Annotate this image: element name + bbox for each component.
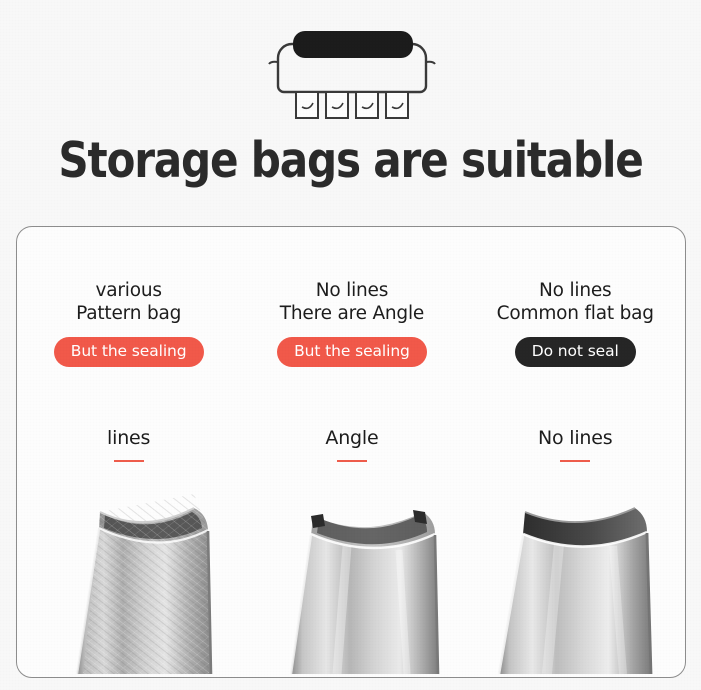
smooth-flat-bag-svg [485, 490, 685, 674]
sealing-bar [293, 31, 413, 58]
comparison-card: various Pattern bag But the sealing line… [16, 226, 686, 678]
column-pattern-bag: various Pattern bag But the sealing line… [17, 227, 240, 462]
bag-image-pattern [55, 490, 255, 678]
heading-line-1: various [76, 279, 181, 302]
accent-underline [337, 460, 367, 462]
bag-tab [386, 92, 408, 118]
bag-tab [356, 92, 378, 118]
bag-tab [326, 92, 348, 118]
column-angle-bag: No lines There are Angle But the sealing… [240, 227, 463, 462]
heading-line-2: Common flat bag [497, 302, 654, 325]
bag-tab [296, 92, 318, 118]
textured-embossed-vacuum-bag-svg [55, 490, 255, 674]
bag-tabs-group [296, 92, 408, 118]
column-heading: No lines Common flat bag [497, 279, 654, 325]
heading-line-2: There are Angle [280, 302, 424, 325]
bag-front-panel [291, 534, 438, 674]
accent-underline [560, 460, 590, 462]
gusset-notch-right [413, 510, 427, 524]
sealer-left-nub [269, 62, 278, 64]
feature-label: lines [107, 427, 150, 449]
bag-illustrations-layer [17, 495, 686, 678]
columns-row: various Pattern bag But the sealing line… [17, 227, 686, 462]
sealer-right-nub [426, 62, 435, 64]
column-flat-bag: No lines Common flat bag Do not seal No … [464, 227, 686, 462]
vacuum-sealer-icon [268, 22, 436, 120]
bag-image-flat [485, 490, 685, 678]
gusseted-angle-vacuum-bag-svg [275, 490, 475, 674]
status-badge: Do not seal [515, 337, 636, 367]
heading-line-1: No lines [497, 279, 654, 302]
status-badge: But the sealing [277, 337, 427, 367]
feature-label: Angle [325, 427, 378, 449]
feature-label: No lines [538, 427, 612, 449]
page-title: Storage bags are suitable [49, 132, 652, 189]
heading-line-1: No lines [280, 279, 424, 302]
bag-image-angle [275, 490, 475, 678]
vacuum-sealer-svg [268, 22, 436, 120]
gusset-notch-left [311, 514, 325, 528]
bag-front-panel [499, 532, 651, 674]
column-heading: No lines There are Angle [280, 279, 424, 325]
status-badge: But the sealing [54, 337, 204, 367]
accent-underline [114, 460, 144, 462]
heading-line-2: Pattern bag [76, 302, 181, 325]
column-heading: various Pattern bag [76, 279, 181, 325]
